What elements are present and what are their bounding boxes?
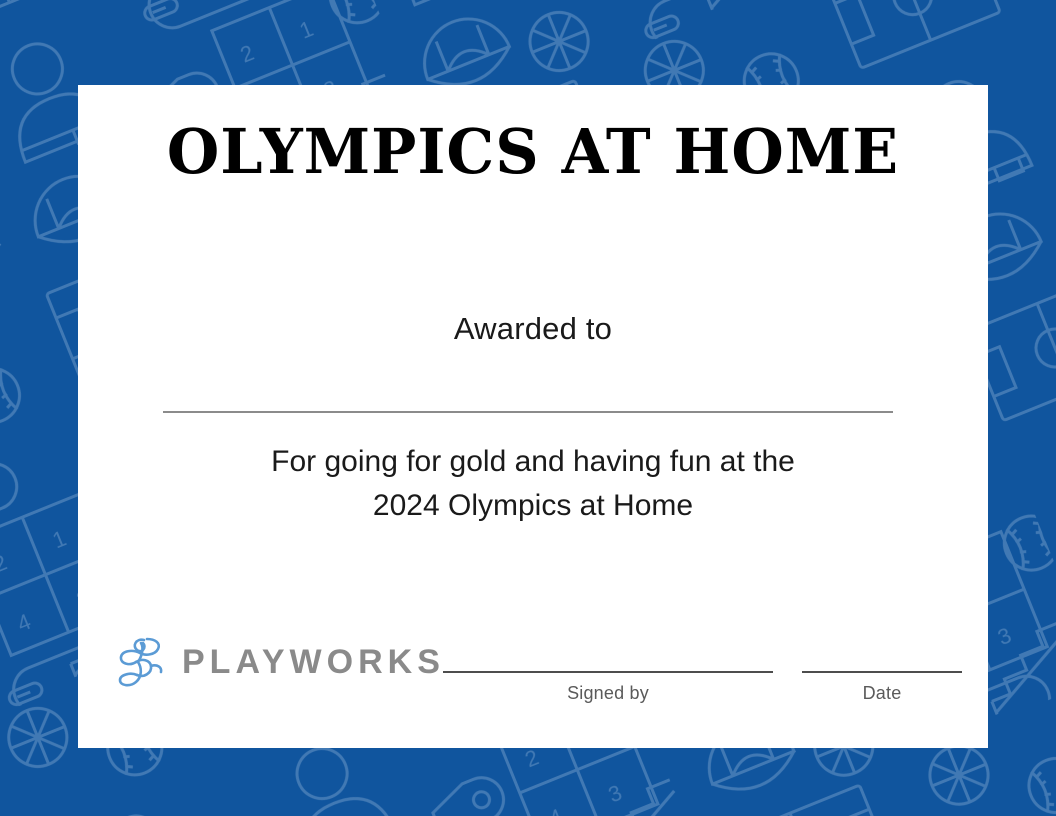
signed-by-line[interactable]	[443, 671, 773, 673]
certificate-body-text: For going for gold and having fun at the…	[138, 440, 928, 528]
recipient-name-value[interactable]	[163, 353, 893, 389]
certificate-page: 2 1 4 3 OLYMPICS AT HOME Awarded to For …	[0, 0, 1056, 816]
certificate-body-line-2: 2024 Olympics at Home	[138, 484, 928, 528]
certificate-title: OLYMPICS AT HOME	[92, 117, 975, 187]
signed-by-block: Signed by	[443, 671, 773, 704]
signed-by-label: Signed by	[443, 683, 773, 704]
certificate-footer: PLAYWORKS Signed by Date	[78, 614, 988, 724]
playworks-logo: PLAYWORKS	[114, 634, 445, 690]
date-label: Date	[802, 683, 962, 704]
awarded-to-label: Awarded to	[78, 311, 988, 347]
recipient-name-line[interactable]	[163, 411, 893, 413]
certificate-card: OLYMPICS AT HOME Awarded to For going fo…	[78, 85, 988, 748]
certificate-body-line-1: For going for gold and having fun at the	[138, 440, 928, 484]
date-line[interactable]	[802, 671, 962, 673]
date-block: Date	[802, 671, 962, 704]
playworks-wordmark: PLAYWORKS	[182, 645, 445, 679]
playworks-loop-icon	[114, 634, 170, 690]
